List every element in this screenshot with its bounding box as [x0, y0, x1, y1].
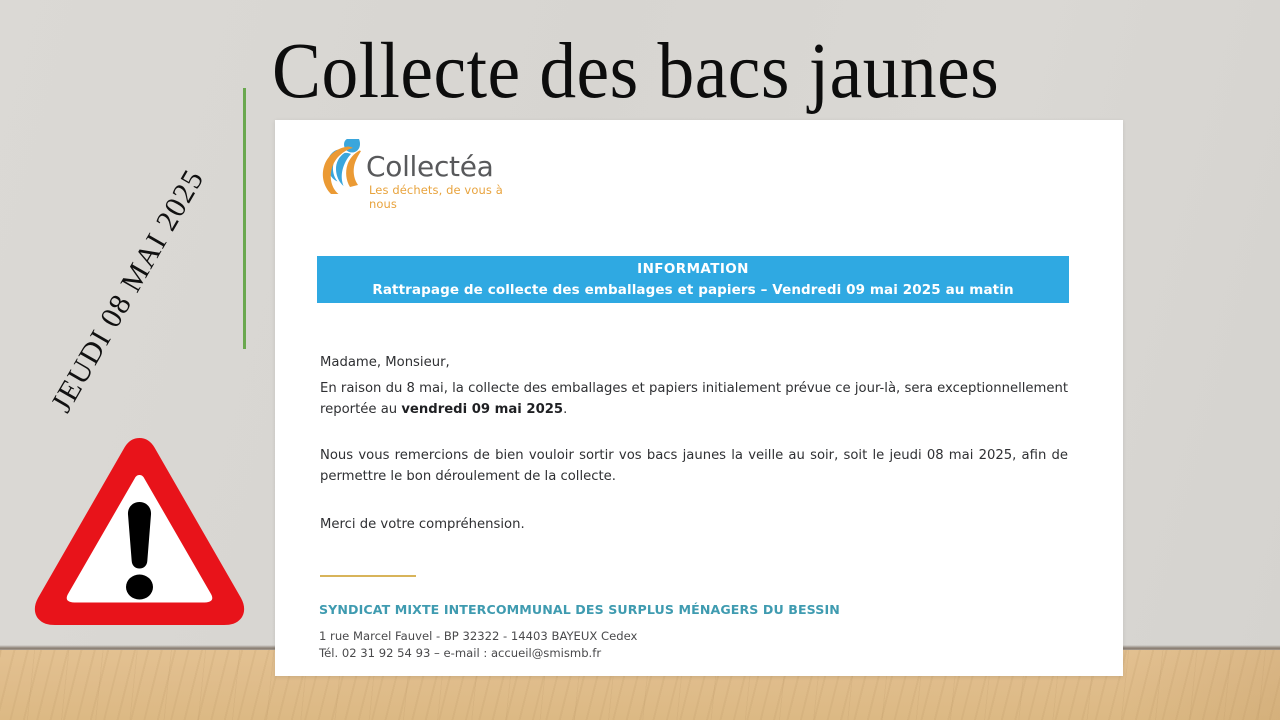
letter-salutation: Madame, Monsieur,: [320, 352, 1068, 373]
footer-address-line-1: 1 rue Marcel Fauvel - BP 32322 - 14403 B…: [319, 628, 637, 645]
letter-paragraph-3: Merci de votre compréhension.: [320, 514, 1068, 535]
footer-address-line-2: Tél. 02 31 92 54 93 – e-mail : accueil@s…: [319, 645, 637, 662]
date-label-container: JEUDI 08 MAI 2025: [50, 100, 210, 440]
collectea-logo: Collectéa Les déchets, de vous à nous: [320, 138, 520, 200]
floor-shading: [1120, 650, 1280, 720]
letter-body: Madame, Monsieur, En raison du 8 mai, la…: [320, 352, 1068, 535]
page-title: Collecte des bacs jaunes: [272, 24, 1109, 120]
presentation-slide: Collecte des bacs jaunes JEUDI 08 MAI 20…: [0, 0, 1280, 720]
paragraph-1-emphasis: vendredi 09 mai 2025: [401, 402, 563, 417]
footer-organisation-name: SYNDICAT MIXTE INTERCOMMUNAL DES SURPLUS…: [319, 602, 840, 617]
scanned-letter-document: Collectéa Les déchets, de vous à nous IN…: [275, 120, 1123, 676]
collectea-wordmark: Collectéa: [366, 150, 494, 183]
letter-paragraph-1: En raison du 8 mai, la collecte des emba…: [320, 378, 1068, 420]
collectea-tagline: Les déchets, de vous à nous: [369, 183, 520, 211]
footer-address: 1 rue Marcel Fauvel - BP 32322 - 14403 B…: [319, 628, 637, 661]
banner-heading: INFORMATION: [317, 256, 1069, 277]
banner-subheading: Rattrapage de collecte des emballages et…: [317, 277, 1069, 298]
footer-divider: [320, 575, 416, 577]
letter-paragraph-2: Nous vous remercions de bien vouloir sor…: [320, 445, 1068, 487]
warning-triangle-icon: [27, 428, 252, 628]
information-banner: INFORMATION Rattrapage de collecte des e…: [317, 256, 1069, 303]
green-accent-line: [243, 88, 246, 349]
paragraph-1-text-b: .: [563, 402, 567, 417]
